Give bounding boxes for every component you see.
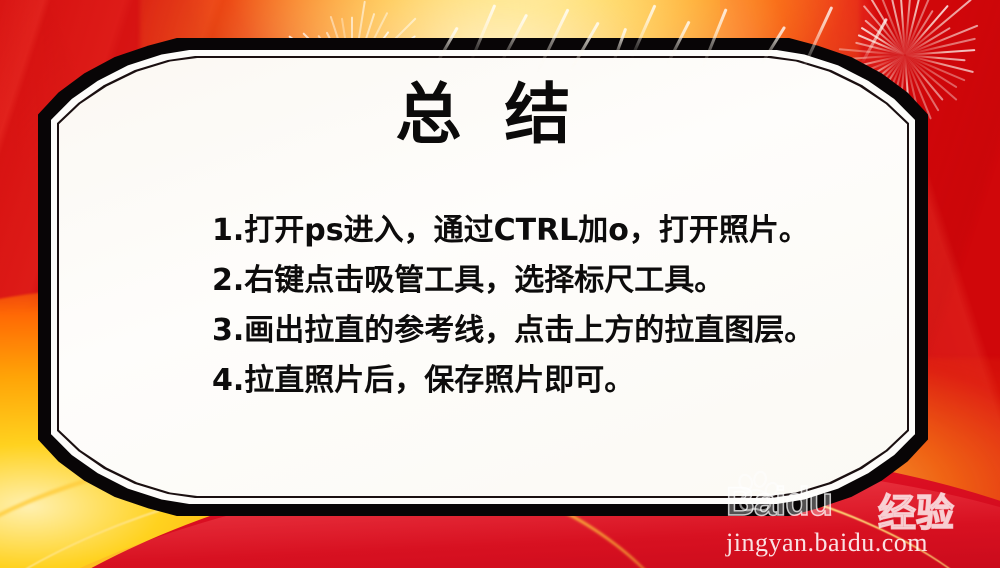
list-item-step-4: 4.拉直照片后，保存照片即可。 bbox=[212, 356, 888, 406]
steps-list: 1.打开ps进入，通过CTRL加o，打开照片。 2.右键点击吸管工具，选择标尺工… bbox=[212, 206, 888, 406]
list-item-step-1: 1.打开ps进入，通过CTRL加o，打开照片。 bbox=[212, 206, 888, 256]
slide-canvas: 总 结 1.打开ps进入，通过CTRL加o，打开照片。 2.右键点击吸管工具，选… bbox=[0, 0, 1000, 568]
list-item-step-2: 2.右键点击吸管工具，选择标尺工具。 bbox=[212, 256, 888, 306]
slide-content: 总 结 1.打开ps进入，通过CTRL加o，打开照片。 2.右键点击吸管工具，选… bbox=[38, 38, 928, 516]
page-title: 总 结 bbox=[38, 82, 928, 148]
content-frame: 总 结 1.打开ps进入，通过CTRL加o，打开照片。 2.右键点击吸管工具，选… bbox=[38, 38, 928, 516]
list-item-step-3: 3.画出拉直的参考线，点击上方的拉直图层。 bbox=[212, 306, 888, 356]
